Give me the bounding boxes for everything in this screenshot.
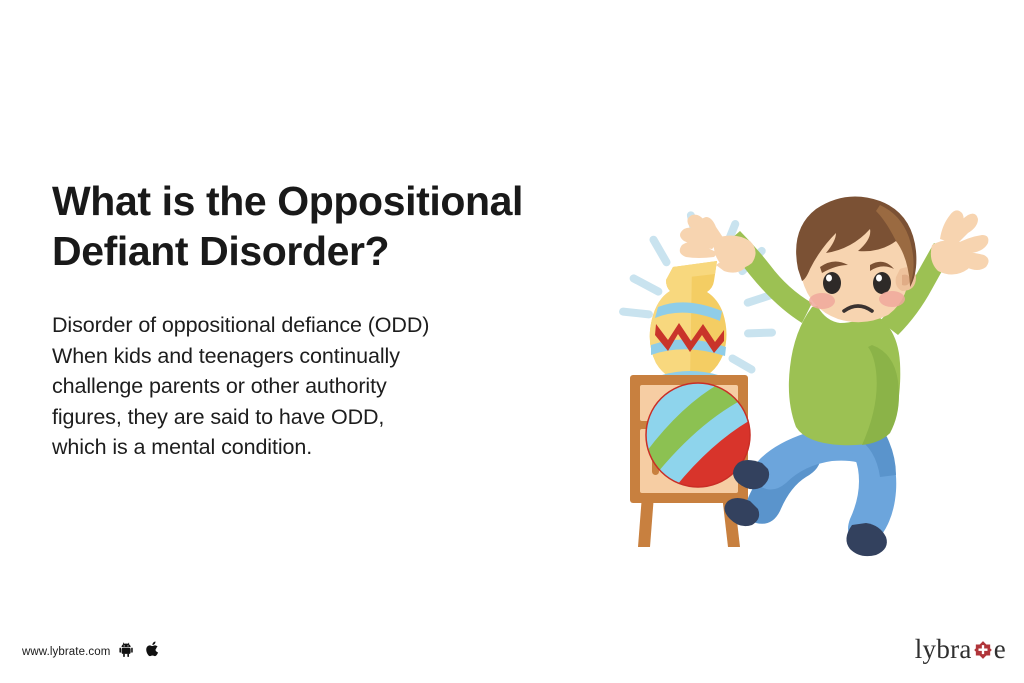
body-line: which is a mental condition. — [52, 432, 572, 463]
footer: www.lybrate.com — [22, 640, 161, 663]
apple-icon[interactable] — [145, 640, 161, 663]
page-title: What is the Oppositional Defiant Disorde… — [52, 176, 572, 276]
infographic-slide: What is the Oppositional Defiant Disorde… — [0, 0, 1024, 683]
lybrate-cross-mark-icon — [973, 636, 993, 667]
logo-text-before: lybra — [915, 634, 972, 665]
android-icon[interactable] — [119, 641, 136, 663]
body-line: challenge parents or other authority — [52, 371, 572, 402]
body-line: figures, they are said to have ODD, — [52, 402, 572, 433]
site-url[interactable]: www.lybrate.com — [22, 646, 110, 658]
logo-text-after: e — [994, 634, 1006, 665]
lybrate-logo[interactable]: lybra e — [915, 634, 1006, 665]
body-line: When kids and teenagers continually — [52, 341, 572, 372]
illustration — [580, 195, 1010, 585]
body-copy: Disorder of oppositional defiance (ODD) … — [52, 310, 572, 463]
vase-icon — [650, 261, 727, 382]
text-column: What is the Oppositional Defiant Disorde… — [52, 176, 572, 463]
body-line: Disorder of oppositional defiance (ODD) — [52, 310, 572, 341]
